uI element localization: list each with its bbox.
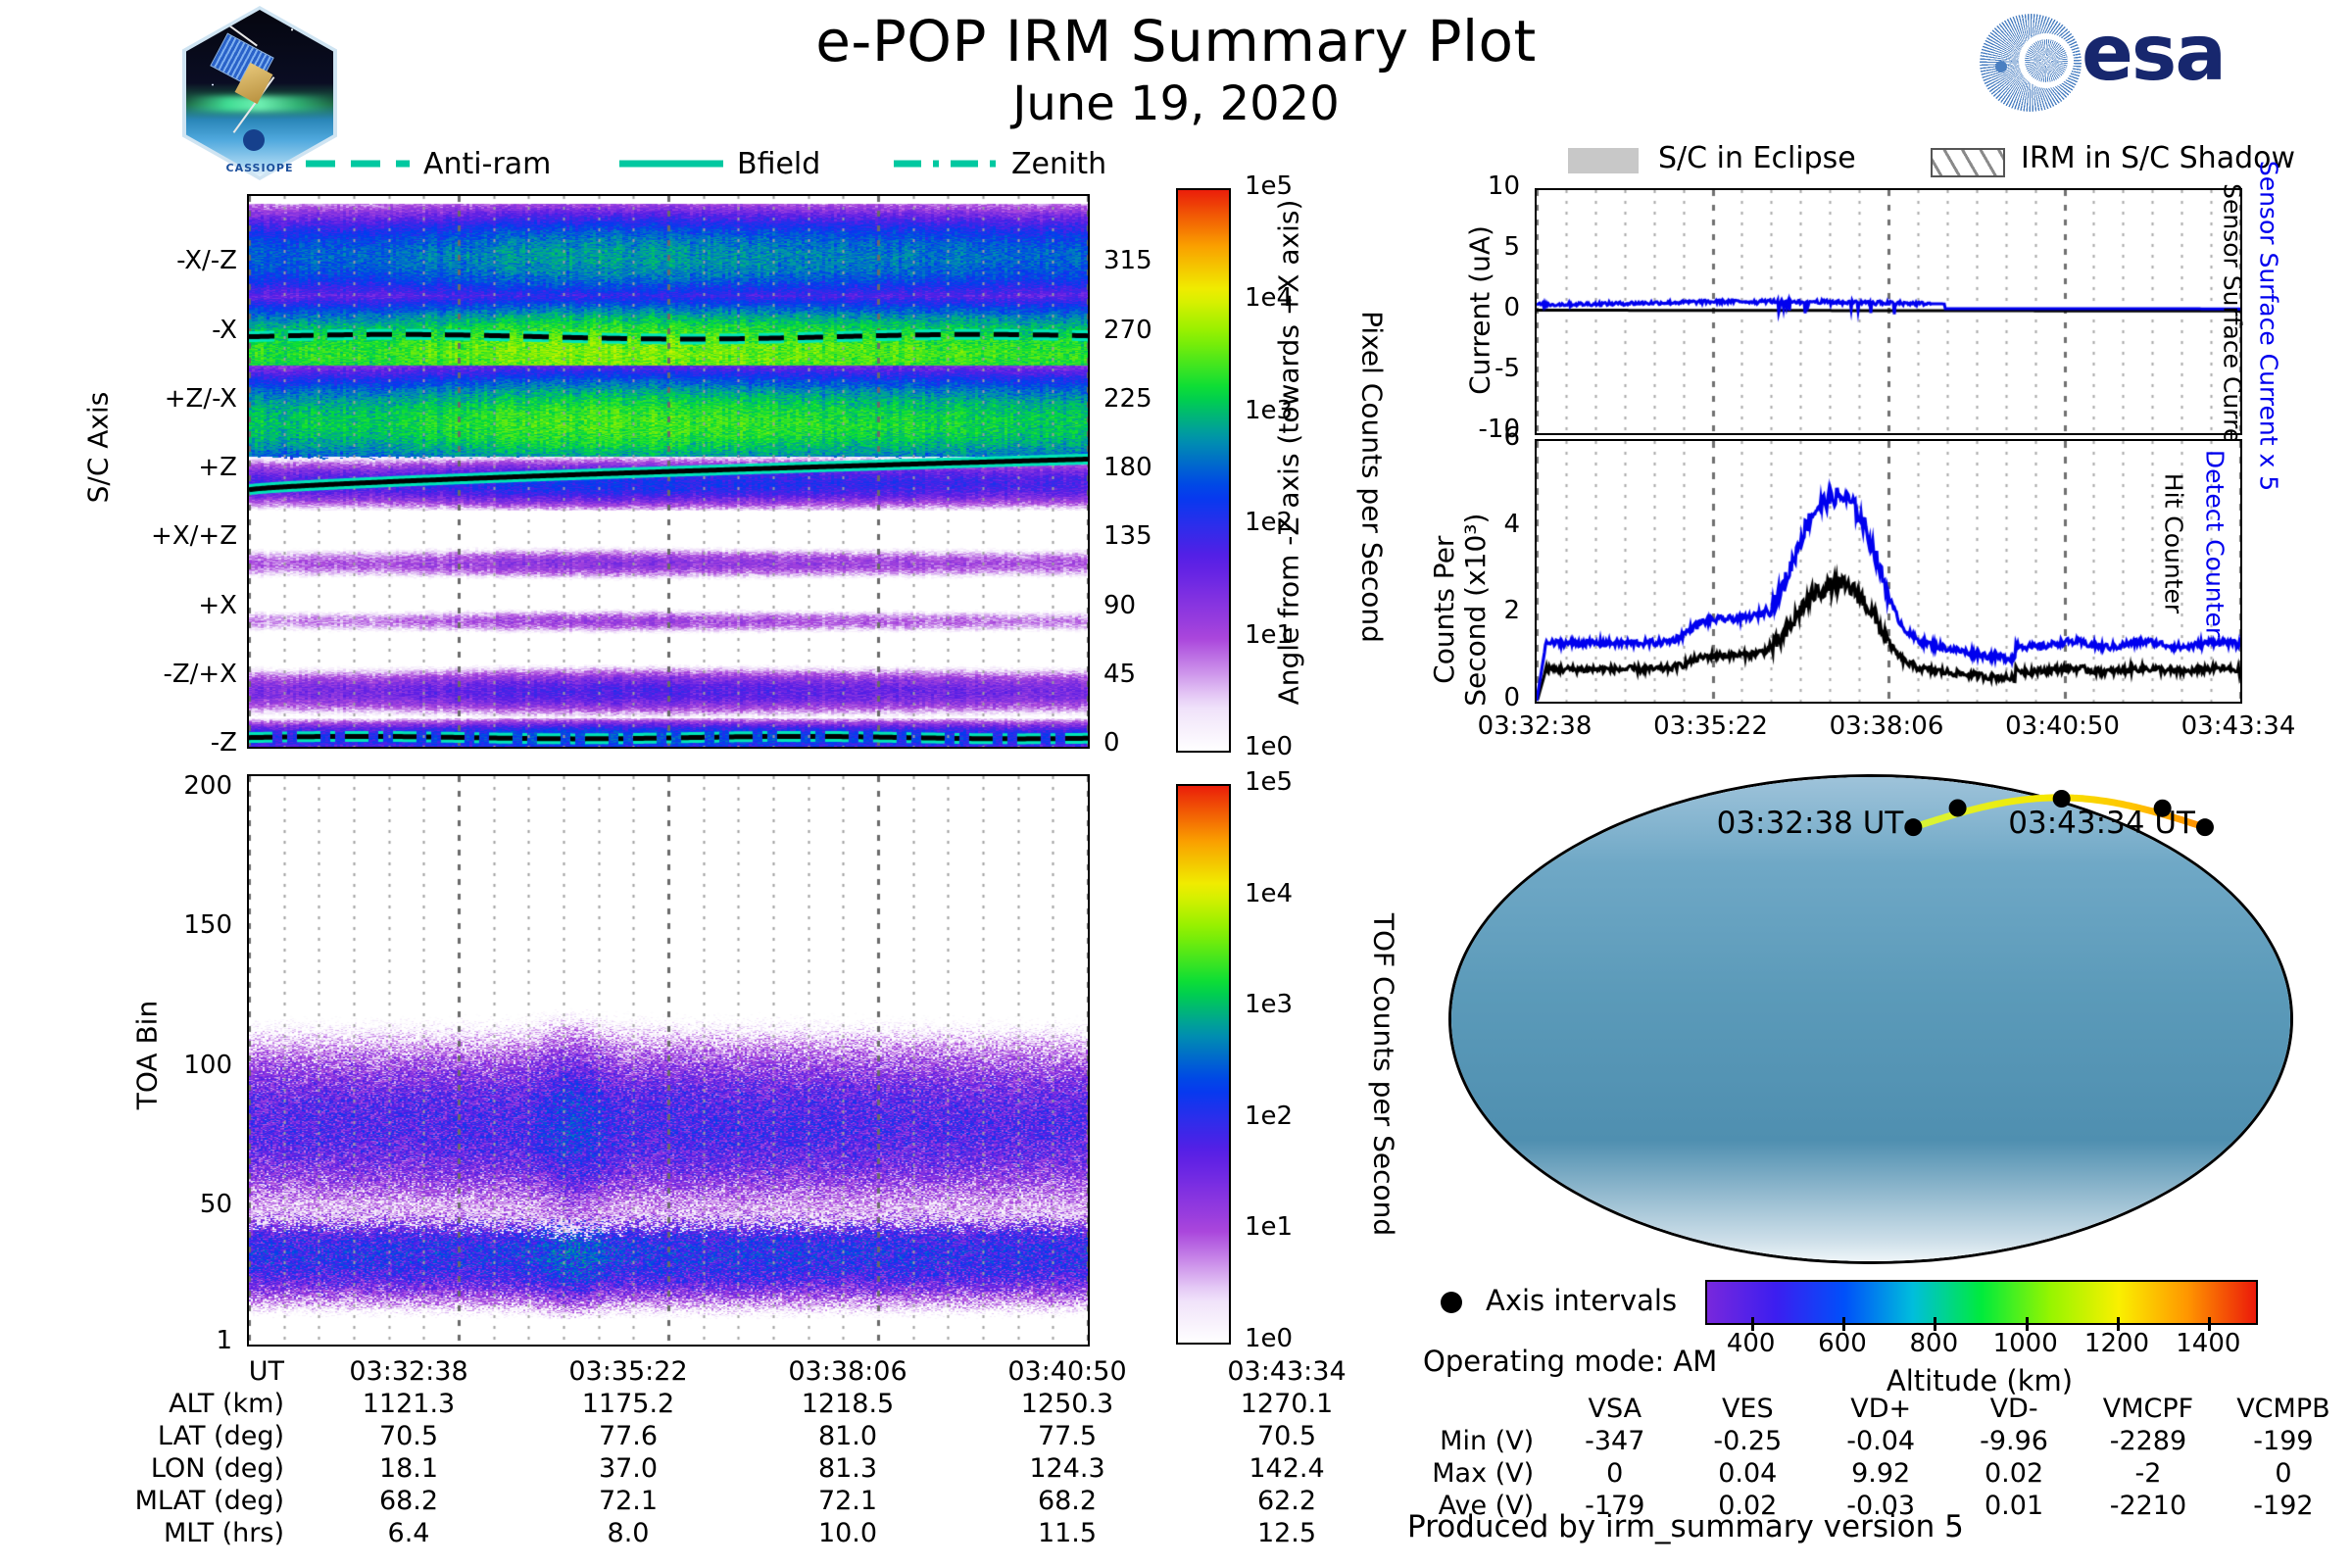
ephemeris-table: UT03:32:3803:35:2203:38:0603:40:5003:43:…	[106, 1354, 1397, 1550]
ephemeris-row: LON (deg)18.137.081.3124.3142.4	[108, 1453, 1396, 1484]
ephemeris-cell-3-3: 124.3	[958, 1453, 1176, 1484]
voltage-cell-0-3: -9.96	[1948, 1426, 2080, 1456]
altitude-colorbar	[1705, 1280, 2258, 1325]
legend-anti-ram-label: Anti-ram	[423, 147, 551, 181]
voltage-cell-0-1: -0.25	[1682, 1426, 1813, 1456]
sc-axis-spectrogram[interactable]	[247, 194, 1090, 749]
voltage-row: Max (V)00.049.920.02-20	[1403, 1458, 2350, 1489]
voltage-row-label-1: Max (V)	[1403, 1458, 1547, 1489]
pixel-cbar-tick-2: 1e3	[1245, 396, 1293, 425]
tof-cbar-tick-2: 1e3	[1245, 990, 1293, 1019]
counts-right-label-black: Hit Counter	[2160, 407, 2188, 681]
ephemeris-cell-3-1: 37.0	[519, 1453, 737, 1484]
zenith-dashdot-line-icon	[892, 151, 1000, 176]
shadow-hatched-swatch-icon	[1931, 148, 2005, 177]
sc-axis-legend: Anti-ram Bfield Zenith	[294, 145, 1098, 192]
ephemeris-cell-2-0: 70.5	[300, 1421, 517, 1451]
current-ytick-3: -5	[1368, 354, 1520, 383]
ephemeris-row-label-1: ALT (km)	[108, 1389, 298, 1419]
eclipse-legend: S/C in Eclipse IRM in S/C Shadow	[1568, 139, 2313, 184]
sc-axis-ytick-5: +X	[2, 591, 237, 620]
altitude-tick-mark-0	[1751, 1317, 1754, 1331]
esa-logo: esa	[1980, 8, 2274, 116]
voltage-col-header-2: VD+	[1815, 1394, 1946, 1424]
ephemeris-cell-3-4: 142.4	[1178, 1453, 1396, 1484]
produced-by-footer: Produced by irm_summary version 5	[1407, 1509, 1964, 1544]
ephemeris-cell-5-0: 6.4	[300, 1518, 517, 1548]
toa-ytick-0: 200	[22, 771, 232, 801]
ephemeris-cell-5-2: 10.0	[739, 1518, 956, 1548]
ephemeris-row: LAT (deg)70.577.681.077.570.5	[108, 1421, 1396, 1451]
altitude-tick-mark-2	[1934, 1317, 1936, 1331]
ephemeris-cell-4-3: 68.2	[958, 1486, 1176, 1516]
legend-zenith	[892, 151, 1000, 180]
ephemeris-cell-4-4: 62.2	[1178, 1486, 1396, 1516]
pixel-counts-colorbar	[1176, 188, 1231, 753]
toa-bin-spectrogram[interactable]	[247, 774, 1090, 1347]
ephemeris-cell-0-4: 03:43:34	[1178, 1356, 1396, 1387]
counts-ytick-0: 6	[1368, 422, 1520, 452]
sc-axis-ytick-3: +Z	[2, 453, 237, 482]
voltage-cell-2-4: -2210	[2082, 1491, 2215, 1521]
pixel-counts-colorbar-label: Pixel Counts per Second	[1356, 213, 1389, 742]
ephemeris-row: MLAT (deg)68.272.172.168.262.2	[108, 1486, 1396, 1516]
voltage-cell-0-5: -199	[2217, 1426, 2350, 1456]
voltage-cell-0-4: -2289	[2082, 1426, 2215, 1456]
pixel-cbar-tick-1: 1e4	[1245, 283, 1293, 313]
tof-cbar-tick-3: 1e2	[1245, 1102, 1293, 1131]
ephemeris-cell-2-4: 70.5	[1178, 1421, 1396, 1451]
altitude-tick-mark-5	[2208, 1317, 2211, 1331]
altitude-tick-mark-3	[2026, 1317, 2029, 1331]
ephemeris-cell-0-0: 03:32:38	[300, 1356, 517, 1387]
legend-bfield-label: Bfield	[737, 147, 820, 181]
pixel-cbar-tick-3: 1e2	[1245, 508, 1293, 537]
voltage-cell-2-3: 0.01	[1948, 1491, 2080, 1521]
sc-axis-ytick-4: +X/+Z	[2, 521, 237, 551]
sc-axis-ytick-7: -Z	[2, 728, 237, 758]
voltage-cell-1-1: 0.04	[1682, 1458, 1813, 1489]
toa-ytick-3: 50	[22, 1190, 232, 1219]
legend-zenith-label: Zenith	[1011, 147, 1106, 181]
anti-ram-dashed-line-icon	[304, 151, 412, 176]
axis-interval-dot-icon	[1441, 1292, 1462, 1313]
voltage-cell-1-3: 0.02	[1948, 1458, 2080, 1489]
legend-anti-ram	[304, 151, 412, 180]
voltage-col-header-3: VD-	[1948, 1394, 2080, 1424]
ephemeris-cell-1-0: 1121.3	[300, 1389, 517, 1419]
ephemeris-cell-3-2: 81.3	[739, 1453, 956, 1484]
ephemeris-row-label-5: MLT (hrs)	[108, 1518, 298, 1548]
altitude-tick-mark-1	[1842, 1317, 1845, 1331]
eclipse-swatch-icon	[1568, 148, 1639, 173]
voltage-header-corner	[1403, 1394, 1547, 1424]
voltage-header-row: VSAVESVD+VD-VMCPFVCMPB	[1403, 1394, 2350, 1424]
voltage-row-label-0: Min (V)	[1403, 1426, 1547, 1456]
voltage-table: VSAVESVD+VD-VMCPFVCMPBMin (V)-347-0.25-0…	[1401, 1392, 2352, 1523]
ephemeris-row-label-2: LAT (deg)	[108, 1421, 298, 1451]
voltage-cell-1-4: -2	[2082, 1458, 2215, 1489]
tof-cbar-tick-1: 1e4	[1245, 879, 1293, 908]
counts-per-second-plot[interactable]	[1535, 439, 2242, 704]
ephemeris-row-label-0: UT	[108, 1356, 298, 1387]
ephemeris-cell-1-2: 1218.5	[739, 1389, 956, 1419]
toa-ytick-2: 100	[22, 1051, 232, 1080]
tof-cbar-tick-4: 1e1	[1245, 1212, 1293, 1242]
altitude-colorbar-ticks: 400600800100012001400	[1705, 1325, 2254, 1364]
current-ytick-0: 10	[1368, 171, 1520, 201]
current-ytick-1: 5	[1368, 232, 1520, 262]
ephemeris-cell-1-1: 1175.2	[519, 1389, 737, 1419]
voltage-cell-1-2: 9.92	[1815, 1458, 1946, 1489]
ephemeris-cell-5-1: 8.0	[519, 1518, 737, 1548]
ephemeris-cell-5-4: 12.5	[1178, 1518, 1396, 1548]
ephemeris-row: MLT (hrs)6.48.010.011.512.5	[108, 1518, 1396, 1548]
ephemeris-cell-5-3: 11.5	[958, 1518, 1176, 1548]
altitude-tick-mark-4	[2117, 1317, 2120, 1331]
current-ytick-2: 0	[1368, 293, 1520, 322]
counts-ytick-3: 0	[1368, 683, 1520, 712]
ground-track-map[interactable]: 03:32:38 UT03:43:34 UT	[1448, 774, 2293, 1264]
voltage-cell-0-2: -0.04	[1815, 1426, 1946, 1456]
ephemeris-cell-2-2: 81.0	[739, 1421, 956, 1451]
voltage-col-header-1: VES	[1682, 1394, 1813, 1424]
pixel-cbar-tick-4: 1e1	[1245, 620, 1293, 650]
voltage-col-header-0: VSA	[1549, 1394, 1680, 1424]
esa-wordmark: esa	[2082, 16, 2225, 92]
tof-cbar-tick-5: 1e0	[1245, 1324, 1293, 1353]
ephemeris-cell-4-0: 68.2	[300, 1486, 517, 1516]
pixel-cbar-tick-0: 1e5	[1245, 171, 1293, 201]
voltage-row: Min (V)-347-0.25-0.04-9.96-2289-199	[1403, 1426, 2350, 1456]
counts-xtick-4: 03:43:34	[2131, 711, 2346, 741]
ephemeris-cell-2-1: 77.6	[519, 1421, 737, 1451]
voltage-cell-0-0: -347	[1549, 1426, 1680, 1456]
sc-axis-ytick-2: +Z/-X	[2, 384, 237, 414]
sc-axis-ytick-6: -Z/+X	[2, 660, 237, 689]
counts-ytick-2: 2	[1368, 596, 1520, 625]
ephemeris-cell-4-2: 72.1	[739, 1486, 956, 1516]
tof-cbar-tick-0: 1e5	[1245, 767, 1293, 797]
sc-axis-ytick-0: -X/-Z	[2, 246, 237, 275]
altitude-tick-5: 1400	[2149, 1329, 2267, 1358]
counts-ytick-1: 4	[1368, 510, 1520, 539]
ephemeris-row-label-3: LON (deg)	[108, 1453, 298, 1484]
ephemeris-row: UT03:32:3803:35:2203:38:0603:40:5003:43:…	[108, 1356, 1396, 1387]
operating-mode-label: Operating mode: AM	[1423, 1345, 1717, 1378]
ephemeris-cell-3-0: 18.1	[300, 1453, 517, 1484]
ephemeris-cell-2-3: 77.5	[958, 1421, 1176, 1451]
voltage-col-header-4: VMCPF	[2082, 1394, 2215, 1424]
bfield-solid-line-icon	[617, 151, 725, 176]
voltage-cell-1-5: 0	[2217, 1458, 2350, 1489]
ephemeris-row: ALT (km)1121.31175.21218.51250.31270.1	[108, 1389, 1396, 1419]
ephemeris-cell-1-4: 1270.1	[1178, 1389, 1396, 1419]
eclipse-legend-label: S/C in Eclipse	[1658, 141, 1856, 175]
ephemeris-cell-0-1: 03:35:22	[519, 1356, 737, 1387]
voltage-col-header-5: VCMPB	[2217, 1394, 2350, 1424]
voltage-cell-1-0: 0	[1549, 1458, 1680, 1489]
voltage-cell-2-5: -192	[2217, 1491, 2350, 1521]
tof-counts-colorbar	[1176, 784, 1231, 1345]
toa-ytick-4: 1	[22, 1326, 232, 1355]
current-right-label-blue: Sensor Surface Current x 5	[2255, 101, 2283, 552]
ephemeris-cell-1-3: 1250.3	[958, 1389, 1176, 1419]
pixel-cbar-tick-5: 1e0	[1245, 732, 1293, 761]
legend-bfield	[617, 151, 725, 180]
ephemeris-cell-0-2: 03:38:06	[739, 1356, 956, 1387]
counts-right-label-blue: Detect Counter	[2201, 397, 2229, 691]
ephemeris-cell-0-3: 03:40:50	[958, 1356, 1176, 1387]
toa-ytick-1: 150	[22, 910, 232, 940]
sensor-surface-current-plot[interactable]	[1535, 188, 2242, 435]
axis-intervals-label: Axis intervals	[1486, 1284, 1677, 1317]
sc-axis-ytick-1: -X	[2, 316, 237, 345]
tof-counts-colorbar-label: TOF Counts per Second	[1368, 801, 1400, 1349]
ephemeris-row-label-4: MLAT (deg)	[108, 1486, 298, 1516]
ephemeris-cell-4-1: 72.1	[519, 1486, 737, 1516]
